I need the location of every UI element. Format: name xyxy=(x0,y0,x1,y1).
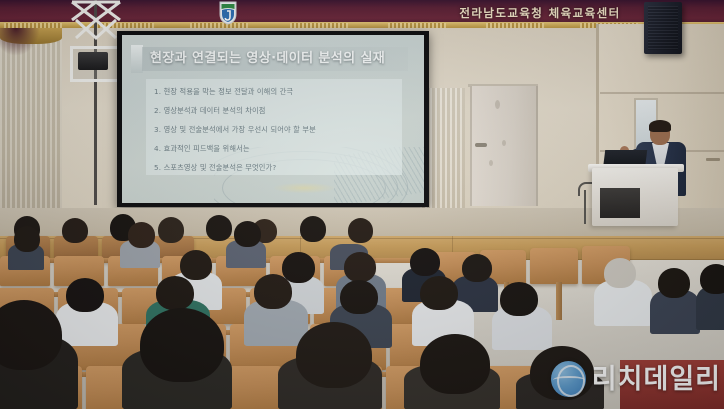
slide-bullet: 3. 영상 및 전술분석에서 가장 우선시 되어야 할 부분 xyxy=(154,123,404,137)
slide-bullet: 4. 효과적인 피드백을 위해서는 xyxy=(154,142,404,156)
door-handle[interactable] xyxy=(475,143,487,147)
audience-member xyxy=(180,250,212,280)
audience-member xyxy=(206,215,232,241)
audience-member xyxy=(282,252,315,283)
presentation-slide: 현장과 연결되는 영상·데이터 분석의 실재 1. 현장 적용을 막는 정보 전… xyxy=(122,35,424,203)
audience-member xyxy=(158,217,184,243)
audience-member xyxy=(156,276,194,310)
wall-panel-joint xyxy=(600,92,724,94)
audience-member-foreground xyxy=(296,322,372,388)
school-shield-emblem xyxy=(218,1,238,25)
watermark-text: 리치데일리 xyxy=(592,366,721,393)
projector-unit xyxy=(78,52,108,70)
presenter-hair xyxy=(649,120,671,132)
audience-member-foreground xyxy=(420,334,490,394)
loudspeaker-grill xyxy=(648,6,678,50)
curtain-top-shadow xyxy=(0,28,40,56)
audience-member xyxy=(348,218,373,243)
slide-bullet: 5. 스포츠영상 및 전술분석은 무엇인가? xyxy=(154,161,404,175)
globe-logo-icon xyxy=(551,361,586,397)
audience-member xyxy=(410,248,440,276)
audience-member xyxy=(300,216,326,242)
watermark: 리치데일리 xyxy=(551,358,721,400)
audience-member xyxy=(462,254,492,282)
slide-title: 현장과 연결되는 영상·데이터 분석의 실재 xyxy=(150,48,410,70)
audience-member-foreground xyxy=(140,308,224,382)
audience-member-grey-hair xyxy=(604,258,636,288)
audience-member xyxy=(700,264,724,294)
lectern-equipment-bay xyxy=(600,188,640,218)
venue-banner-text: 전라남도교육청 체육교육센터 xyxy=(430,3,650,23)
audience-member xyxy=(340,280,378,314)
audience-member xyxy=(500,282,538,316)
left-window-curtain xyxy=(0,30,62,235)
audience-member xyxy=(66,278,104,312)
wall-panel-notch xyxy=(706,158,720,161)
audience-member xyxy=(62,218,88,243)
stadium-field-glow xyxy=(274,183,334,193)
door-scuff xyxy=(502,140,506,146)
door-scuff xyxy=(495,100,500,109)
audience-member xyxy=(14,226,40,252)
auditorium-lecture-photo: 전라남도교육청 체육교육센터 xyxy=(0,0,724,409)
audience-member xyxy=(128,222,155,248)
audience-member xyxy=(658,268,690,298)
slide-bullet: 2. 영상분석과 데이터 분석의 차이점 xyxy=(154,104,404,118)
audience-member xyxy=(254,274,292,309)
audience-member xyxy=(420,276,458,310)
audience-member xyxy=(234,221,261,247)
auditorium-seat[interactable] xyxy=(530,248,578,284)
slide-bullet: 1. 현장 적용을 막는 정보 전달과 이해의 간극 xyxy=(154,85,404,99)
seat-leg xyxy=(556,282,562,320)
door-scuff xyxy=(489,160,493,166)
microphone-stand xyxy=(584,190,586,224)
audience-member xyxy=(344,252,376,282)
